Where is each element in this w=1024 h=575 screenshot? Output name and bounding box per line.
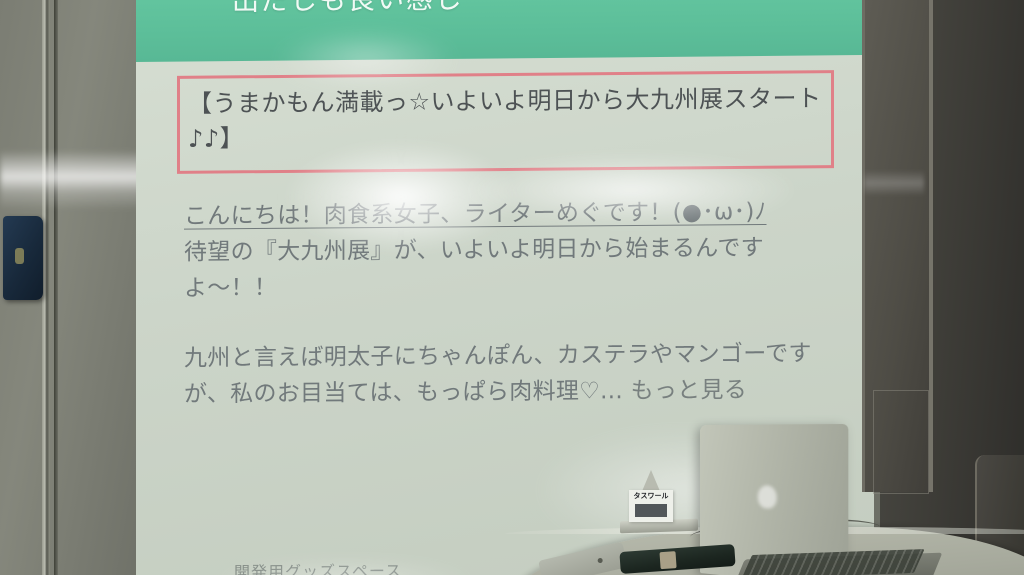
wall-panel-seam-secondary <box>54 0 58 575</box>
read-more-link[interactable]: もっと見る <box>631 377 748 404</box>
whiteboard-eraser <box>3 216 43 300</box>
slide-header-title: 出だしも良い感じ <box>232 0 464 18</box>
wall-light-glare <box>0 150 150 210</box>
wall-panel-seam <box>42 0 50 575</box>
slide-body: こんにちは！肉食系女子、ライターめぐです！(●･ω･)ﾉ 待望の『大九州展』が、… <box>184 193 844 446</box>
apple-logo-icon <box>758 485 777 509</box>
slide-header-band: 出だしも良い感じ <box>136 0 874 62</box>
paragraph-kyushu-foods: 九州と言えば明太子にちゃんぽん、カステラやマンゴーですが、私のお目当ては、もっぱ… <box>184 335 844 412</box>
name-card-line2 <box>635 504 667 517</box>
left-wall <box>0 0 140 575</box>
name-card: タスワール <box>629 490 673 522</box>
door-panel <box>862 0 933 492</box>
door-light-glare <box>864 170 924 196</box>
screenshot-scene: 出だしも良い感じ 【うまかもん満載っ☆いよいよ明日から大九州展スタート♪♪】 こ… <box>0 0 1024 575</box>
headline-text: 【うまかもん満載っ☆いよいよ明日から大九州展スタート♪♪】 <box>188 81 838 157</box>
paragraph-greeting: こんにちは！肉食系女子、ライターめぐです！(●･ω･)ﾉ 待望の『大九州展』が、… <box>184 193 844 306</box>
name-card-line1: タスワール <box>631 492 671 501</box>
greeting-link-line[interactable]: こんにちは！肉食系女子、ライターめぐです！(●･ω･)ﾉ <box>184 199 767 230</box>
greeting-rest: 待望の『大九州展』が、いよいよ明日から始まるんですよ〜！！ <box>184 235 764 302</box>
remote-band <box>659 551 676 569</box>
